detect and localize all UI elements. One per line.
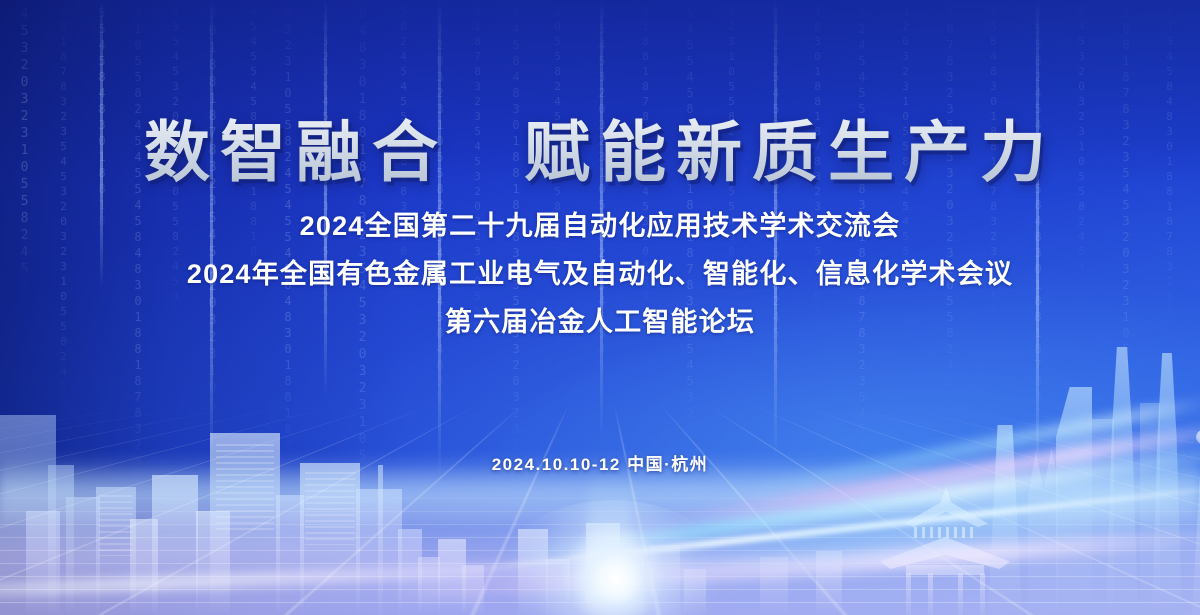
subtitle-line-1: 2024全国第二十九届自动化应用技术学术交流会	[0, 204, 1200, 243]
tv-tower-sphere	[1196, 429, 1200, 445]
subtitle-line-2: 2024年全国有色金属工业电气及自动化、智能化、信息化学术会议	[0, 252, 1200, 291]
event-date-location: 2024.10.10-12 中国·杭州	[0, 450, 1200, 475]
page-title: 数智融合 赋能新质生产力	[0, 0, 1200, 190]
glow-core-inner	[556, 540, 676, 615]
conference-banner: 5453203231055824545545188187832354532032…	[0, 0, 1200, 615]
banner-text-block: 数智融合 赋能新质生产力 2024全国第二十九届自动化应用技术学术交流会 202…	[0, 0, 1200, 339]
subtitle-line-3: 第六届冶金人工智能论坛	[0, 300, 1200, 339]
